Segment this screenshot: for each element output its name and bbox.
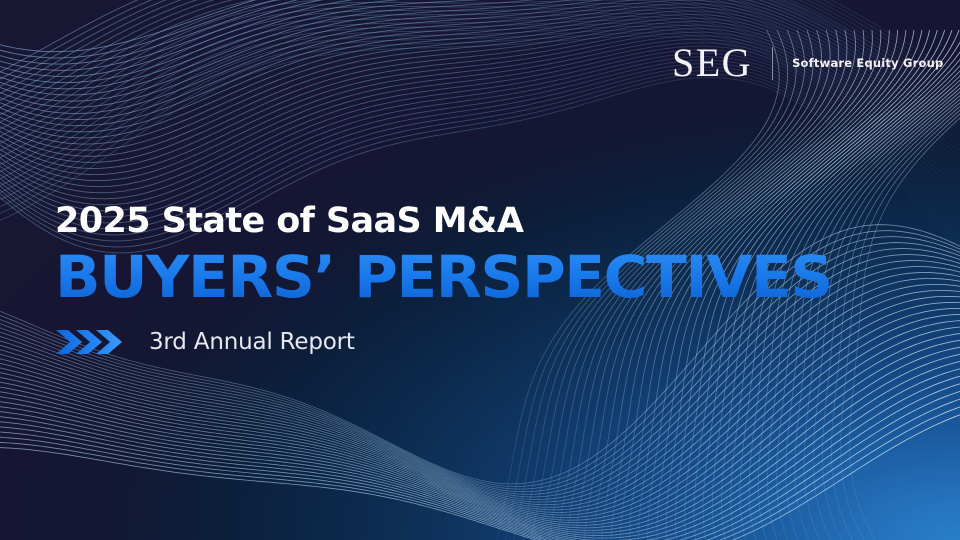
report-eyebrow: 2025 State of SaaS M&A — [55, 204, 809, 239]
seg-tagline: Software Equity Group — [792, 56, 943, 70]
title-slide: SEG Software Equity Group 2025 State of … — [0, 0, 960, 540]
seg-wordmark: SEG — [672, 43, 752, 83]
report-subtitle: 3rd Annual Report — [149, 331, 355, 354]
seg-logo: SEG Software Equity Group — [672, 41, 943, 85]
title-block: 2025 State of SaaS M&A BUYERS’ PERSPECTI… — [55, 204, 809, 357]
logo-divider — [772, 47, 773, 80]
report-headline: BUYERS’ PERSPECTIVES — [55, 248, 832, 306]
triple-chevron-right-icon — [56, 328, 128, 356]
subtitle-row: 3rd Annual Report — [55, 327, 809, 357]
